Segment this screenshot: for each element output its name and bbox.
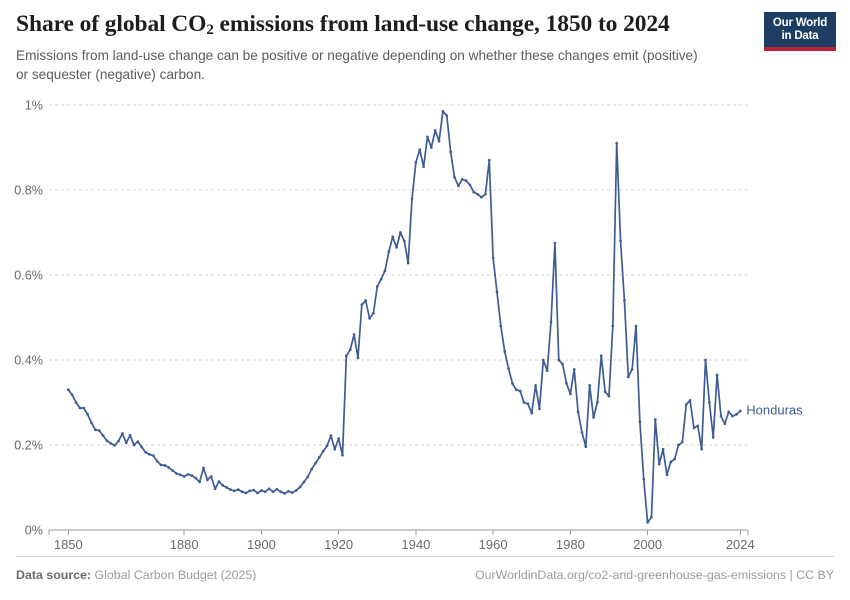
series-data-point[interactable] [527, 402, 530, 405]
series-data-point[interactable] [716, 374, 719, 377]
series-data-point[interactable] [554, 242, 557, 245]
series-data-point[interactable] [364, 299, 367, 302]
series-data-point[interactable] [569, 393, 572, 396]
series-data-point[interactable] [588, 384, 591, 387]
series-data-point[interactable] [272, 490, 275, 493]
series-data-point[interactable] [550, 320, 553, 323]
series-line-honduras[interactable] [68, 111, 740, 522]
series-data-point[interactable] [650, 516, 653, 519]
series-data-point[interactable] [689, 399, 692, 402]
series-data-point[interactable] [662, 448, 665, 451]
series-data-point[interactable] [279, 490, 282, 493]
series-data-point[interactable] [488, 159, 491, 162]
series-data-point[interactable] [353, 333, 356, 336]
series-data-point[interactable] [411, 197, 414, 200]
series-data-point[interactable] [739, 410, 742, 413]
series-data-point[interactable] [349, 348, 352, 351]
x-axis-tick-label: 2024 [726, 537, 755, 552]
series-data-point[interactable] [658, 463, 661, 466]
series-data-point[interactable] [492, 257, 495, 260]
series-data-point[interactable] [577, 411, 580, 414]
series-data-point[interactable] [276, 488, 279, 491]
series-data-point[interactable] [360, 303, 363, 306]
series-data-point[interactable] [499, 325, 502, 328]
series-data-point[interactable] [368, 317, 371, 320]
x-axis-labels-group: 185018801900192019401960198020002024 [54, 537, 755, 552]
x-axis-tick-label: 1850 [54, 537, 83, 552]
plot-area: 0%0.2%0.4%0.6%0.8%1% 1850188019001920194… [0, 0, 850, 600]
series-data-point[interactable] [318, 456, 321, 459]
series-data-point[interactable] [415, 161, 418, 164]
series-data-point[interactable] [109, 442, 112, 445]
series-data-point[interactable] [693, 427, 696, 430]
series-data-point[interactable] [503, 350, 506, 353]
series-data-point[interactable] [654, 418, 657, 421]
series-data-point[interactable] [330, 434, 333, 437]
series-data-point[interactable] [438, 140, 441, 143]
series-data-point[interactable] [708, 401, 711, 404]
y-axis-tick-label: 0.8% [14, 184, 43, 198]
series-data-point[interactable] [179, 473, 182, 476]
series-data-point[interactable] [75, 401, 78, 404]
series-data-point[interactable] [395, 246, 398, 249]
series-data-point[interactable] [422, 165, 425, 168]
series-data-point[interactable] [94, 428, 97, 431]
series-data-point[interactable] [581, 431, 584, 434]
series-data-point[interactable] [642, 478, 645, 481]
series-data-point[interactable] [480, 196, 483, 199]
series-data-point[interactable] [194, 477, 197, 480]
y-axis-tick-label: 1% [25, 99, 43, 113]
series-data-point[interactable] [71, 394, 74, 397]
series-data-point[interactable] [152, 454, 155, 457]
data-source-value: Global Carbon Budget (2025) [95, 568, 257, 582]
series-data-point[interactable] [380, 278, 383, 281]
series-data-point[interactable] [592, 416, 595, 419]
series-data-point[interactable] [449, 150, 452, 153]
series-data-point[interactable] [619, 240, 622, 243]
series-data-point[interactable] [214, 487, 217, 490]
series-data-point[interactable] [129, 434, 132, 437]
series-data-point[interactable] [442, 110, 445, 113]
y-axis-tick-label: 0.4% [14, 354, 43, 368]
y-axis-tick-label: 0.6% [14, 269, 43, 283]
series-data-point[interactable] [542, 359, 545, 362]
series-data-point[interactable] [515, 388, 518, 391]
series-data-point[interactable] [229, 488, 232, 491]
series-data-point[interactable] [399, 231, 402, 234]
series-data-point[interactable] [484, 193, 487, 196]
series-data-point[interactable] [646, 521, 649, 524]
line-chart-svg: 0%0.2%0.4%0.6%0.8%1% 1850188019001920194… [0, 0, 850, 600]
series-data-point[interactable] [627, 376, 630, 379]
series-data-point[interactable] [461, 178, 464, 181]
series-data-point[interactable] [221, 484, 224, 487]
series-data-point[interactable] [376, 285, 379, 288]
series-data-point[interactable] [372, 312, 375, 315]
series-data-point[interactable] [666, 473, 669, 476]
series-data-point[interactable] [202, 467, 205, 470]
series-data-point[interactable] [511, 382, 514, 385]
series-data-point[interactable] [167, 466, 170, 469]
series-data-point[interactable] [86, 413, 89, 416]
x-axis-tick-label: 1940 [401, 537, 430, 552]
series-data-point[interactable] [283, 492, 286, 495]
series-data-point[interactable] [457, 184, 460, 187]
series-data-point[interactable] [303, 481, 306, 484]
series-data-point[interactable] [469, 184, 472, 187]
series-data-point[interactable] [136, 440, 139, 443]
series-data-point[interactable] [407, 262, 410, 265]
attribution-link[interactable]: OurWorldinData.org/co2-and-greenhouse-ga… [475, 568, 834, 582]
x-axis-tick-label: 1980 [556, 537, 585, 552]
series-data-point[interactable] [727, 411, 730, 414]
series-data-point[interactable] [210, 475, 213, 478]
series-data-point[interactable] [310, 468, 313, 471]
series-data-point[interactable] [391, 235, 394, 238]
x-axis-group [49, 530, 748, 535]
series-data-point[interactable] [164, 464, 167, 467]
series-data-point[interactable] [557, 359, 560, 362]
series-data-point[interactable] [523, 401, 526, 404]
series-data-point[interactable] [98, 429, 101, 432]
series-data-point[interactable] [696, 425, 699, 428]
series-data-point[interactable] [685, 403, 688, 406]
series-label-honduras[interactable]: Honduras [746, 402, 803, 417]
series-data-point[interactable] [631, 368, 634, 371]
y-axis-labels-group: 0%0.2%0.4%0.6%0.8%1% [14, 99, 43, 538]
series-data-point[interactable] [476, 193, 479, 196]
series-data-point[interactable] [465, 179, 468, 182]
x-axis-tick-label: 1960 [479, 537, 508, 552]
series-data-point[interactable] [90, 422, 93, 425]
series-data-point[interactable] [388, 250, 391, 253]
series-data-point[interactable] [341, 454, 344, 457]
series-data-point[interactable] [731, 415, 734, 418]
x-axis-tick-label: 1920 [324, 537, 353, 552]
chart-root: Share of global CO2 emissions from land-… [0, 0, 850, 600]
series-data-point[interactable] [67, 388, 70, 391]
series-data-point[interactable] [573, 368, 576, 371]
series-data-point[interactable] [584, 445, 587, 448]
series-data-point[interactable] [133, 444, 136, 447]
series-data-point[interactable] [623, 299, 626, 302]
series-data-point[interactable] [639, 420, 642, 423]
series-data-point[interactable] [673, 458, 676, 461]
series-data-point[interactable] [237, 488, 240, 491]
series-data-point[interactable] [260, 489, 263, 492]
x-axis-tick-label: 1900 [247, 537, 276, 552]
series-data-point[interactable] [113, 444, 116, 447]
series-data-point[interactable] [82, 407, 85, 410]
series-data-point[interactable] [299, 486, 302, 489]
series-data-point[interactable] [596, 401, 599, 404]
series-data-point[interactable] [384, 269, 387, 272]
series-data-point[interactable] [218, 480, 221, 483]
y-axis-tick-label: 0% [25, 524, 43, 538]
series-data-point[interactable] [314, 462, 317, 465]
series-label-group: Honduras [746, 402, 803, 417]
series-data-point[interactable] [418, 148, 421, 151]
series-data-point[interactable] [445, 114, 448, 117]
x-axis-tick-label: 1880 [170, 537, 199, 552]
series-data-point[interactable] [79, 407, 82, 410]
series-group [67, 110, 742, 524]
series-data-point[interactable] [403, 240, 406, 243]
series-data-point[interactable] [600, 354, 603, 357]
series-data-point[interactable] [472, 191, 475, 194]
series-data-point[interactable] [723, 422, 726, 425]
series-data-point[interactable] [183, 475, 186, 478]
series-data-point[interactable] [677, 444, 680, 447]
chart-footer: Data source: Global Carbon Budget (2025)… [16, 568, 834, 588]
series-data-point[interactable] [144, 451, 147, 454]
series-data-point[interactable] [156, 460, 159, 463]
data-source: Data source: Global Carbon Budget (2025) [16, 568, 256, 582]
series-data-point[interactable] [530, 412, 533, 415]
series-data-point[interactable] [198, 481, 201, 484]
series-data-point[interactable] [160, 464, 163, 467]
series-data-point[interactable] [306, 476, 309, 479]
series-data-point[interactable] [102, 434, 105, 437]
series-data-point[interactable] [345, 354, 348, 357]
series-data-point[interactable] [565, 382, 568, 385]
series-data-point[interactable] [538, 408, 541, 411]
series-data-point[interactable] [615, 142, 618, 145]
series-data-point[interactable] [507, 367, 510, 370]
data-source-label: Data source: [16, 568, 91, 582]
series-data-point[interactable] [268, 487, 271, 490]
series-data-point[interactable] [175, 472, 178, 475]
series-data-point[interactable] [291, 491, 294, 494]
series-data-point[interactable] [608, 395, 611, 398]
series-data-point[interactable] [206, 479, 209, 482]
y-axis-tick-label: 0.2% [14, 439, 43, 453]
series-data-point[interactable] [720, 415, 723, 418]
series-data-point[interactable] [681, 441, 684, 444]
series-data-point[interactable] [434, 129, 437, 132]
footer-divider [16, 556, 834, 557]
series-data-point[interactable] [561, 363, 564, 366]
series-data-point[interactable] [245, 492, 248, 495]
series-data-point[interactable] [546, 369, 549, 372]
series-data-point[interactable] [117, 440, 120, 443]
series-data-point[interactable] [735, 413, 738, 416]
series-data-point[interactable] [148, 453, 151, 456]
series-data-point[interactable] [326, 445, 329, 448]
series-data-point[interactable] [233, 490, 236, 493]
series-data-point[interactable] [337, 437, 340, 440]
series-data-point[interactable] [264, 490, 267, 493]
series-data-point[interactable] [430, 146, 433, 149]
series-data-point[interactable] [357, 357, 360, 360]
series-data-point[interactable] [519, 390, 522, 393]
series-data-point[interactable] [333, 448, 336, 451]
series-data-point[interactable] [287, 490, 290, 493]
series-data-point[interactable] [187, 473, 190, 476]
series-data-point[interactable] [604, 391, 607, 394]
series-data-point[interactable] [106, 439, 109, 442]
x-axis-tick-label: 2000 [633, 537, 662, 552]
series-data-point[interactable] [295, 489, 298, 492]
series-data-point[interactable] [248, 490, 251, 493]
series-data-point[interactable] [712, 436, 715, 439]
series-data-point[interactable] [252, 489, 255, 492]
series-data-point[interactable] [426, 136, 429, 139]
series-data-point[interactable] [121, 432, 124, 435]
series-data-point[interactable] [496, 291, 499, 294]
series-data-point[interactable] [322, 450, 325, 453]
series-data-point[interactable] [611, 325, 614, 328]
series-data-point[interactable] [140, 446, 143, 449]
series-data-point[interactable] [241, 490, 244, 493]
series-data-point[interactable] [191, 474, 194, 477]
series-data-point[interactable] [453, 176, 456, 179]
series-data-point[interactable] [704, 359, 707, 362]
series-data-point[interactable] [635, 325, 638, 328]
series-data-point[interactable] [225, 486, 228, 489]
series-data-point[interactable] [534, 384, 537, 387]
series-data-point[interactable] [700, 448, 703, 451]
series-data-point[interactable] [256, 492, 259, 495]
series-data-point[interactable] [171, 469, 174, 472]
series-data-point[interactable] [125, 442, 128, 445]
series-data-point[interactable] [669, 461, 672, 464]
